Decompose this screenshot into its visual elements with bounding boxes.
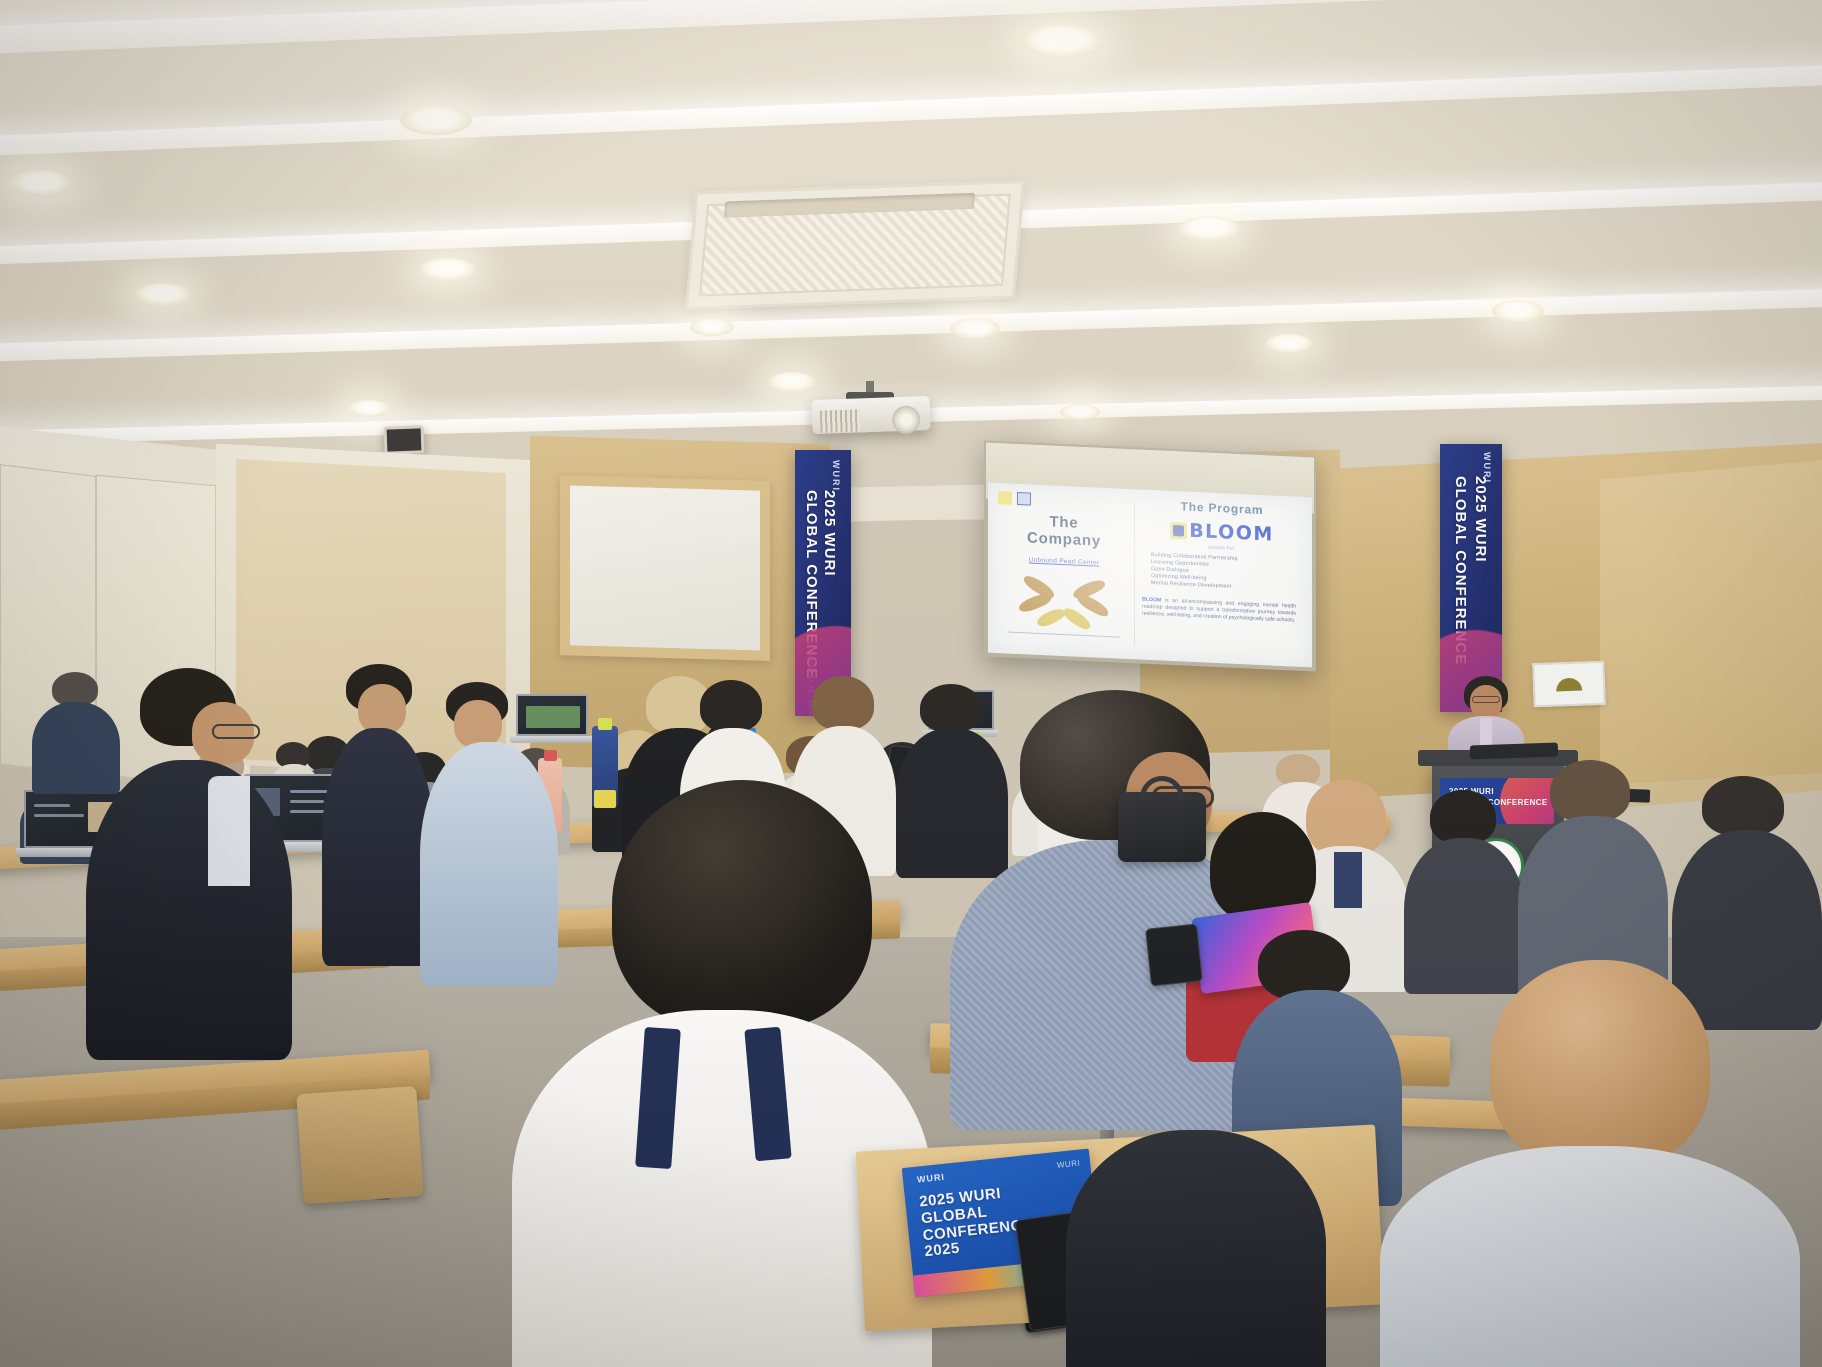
torso <box>322 728 434 966</box>
bloom-description-lead: BLOOM <box>1142 597 1161 604</box>
ceiling-downlight <box>1492 300 1544 322</box>
ceiling-downlight <box>10 170 72 196</box>
dress-shirt <box>208 776 250 886</box>
ceiling-downlight <box>768 372 816 392</box>
booklet-logo-2: WURI <box>916 1172 945 1185</box>
chair[interactable] <box>296 1086 423 1204</box>
slide-column-divider <box>1134 503 1135 645</box>
ceiling-downlight <box>135 283 191 306</box>
foreground-attendee-darkcoat <box>1066 1130 1326 1367</box>
ceiling-downlight <box>1020 24 1104 58</box>
hair <box>1550 760 1630 822</box>
lecture-hall-photo: WURI 2025 WURI GLOBAL CONFERENCE JUNE 11… <box>0 0 1822 1367</box>
hair <box>52 672 98 706</box>
head <box>1490 960 1710 1170</box>
foreground-attendee-right <box>1380 960 1800 1367</box>
banner-left-line1: 2025 WURI <box>821 490 837 577</box>
ceiling-downlight <box>348 400 390 417</box>
slide-right-column: The Program BLOOM stands for: Building C… <box>1138 489 1306 667</box>
audience-member <box>322 664 434 964</box>
presenter-glasses-icon <box>1472 696 1500 703</box>
sign-icon <box>1556 677 1582 691</box>
ceiling-projector <box>811 396 930 434</box>
ceiling-downlight <box>400 105 472 135</box>
hair <box>612 780 872 1030</box>
bloom-description: BLOOM is an all-encompassing and engagin… <box>1138 597 1306 625</box>
whiteboard <box>560 475 770 661</box>
wall-speaker <box>384 425 425 454</box>
phone-on-desk[interactable] <box>1145 923 1203 986</box>
bloom-bullets: Building Collaborative Partnership Learn… <box>1138 551 1306 594</box>
suit-jacket <box>86 760 292 1060</box>
hair <box>1702 776 1784 836</box>
hand-shape <box>1035 605 1067 629</box>
ceiling-downlight <box>420 258 476 281</box>
wall-notice-sign <box>1532 661 1605 707</box>
hands-forming-heart-logo <box>1016 574 1112 630</box>
hair <box>812 676 874 730</box>
ceiling-ac-cassette <box>685 180 1025 310</box>
bloom-wordmark: BLOOM <box>1189 520 1274 546</box>
ceiling-downlight <box>1266 334 1312 353</box>
slide-rule <box>1008 632 1120 638</box>
presentation-slide: The Company Unbound Pearl Center The Pro… <box>988 483 1312 668</box>
projector-lens <box>892 405 921 434</box>
torso <box>1380 1146 1800 1367</box>
ceiling-downlight <box>1060 404 1100 420</box>
banner-right: WURI 2025 WURI GLOBAL CONFERENCE <box>1440 444 1502 712</box>
slide-program-title: The Program <box>1138 497 1306 519</box>
projection-screen-housing: The Company Unbound Pearl Center The Pro… <box>984 440 1316 671</box>
head <box>454 700 502 748</box>
projector-vent <box>820 409 861 432</box>
slide-left-column: The Company Unbound Pearl Center <box>994 483 1134 659</box>
hair <box>920 684 982 732</box>
head <box>358 684 406 734</box>
hair <box>1430 790 1496 844</box>
ceiling-downlight <box>1178 216 1240 241</box>
bloom-description-body: is an all-encompassing and engaging ment… <box>1142 598 1296 624</box>
hair <box>700 680 762 732</box>
ceiling-downlight <box>950 318 1000 339</box>
bottle-cap <box>598 718 612 730</box>
necktie <box>1334 852 1362 908</box>
glasses-icon <box>212 724 260 739</box>
ceiling <box>0 0 1822 520</box>
right-wall-wood <box>1600 460 1822 809</box>
bloom-mark-icon <box>1170 521 1187 539</box>
slide-company-subtitle: Unbound Pearl Center <box>994 555 1134 568</box>
banner-left-logo: WURI <box>831 460 841 492</box>
ceiling-downlight <box>690 318 734 336</box>
torso <box>1066 1130 1326 1367</box>
audience-member-suit <box>96 668 276 1068</box>
banner-right-line1: 2025 WURI <box>1472 476 1488 563</box>
